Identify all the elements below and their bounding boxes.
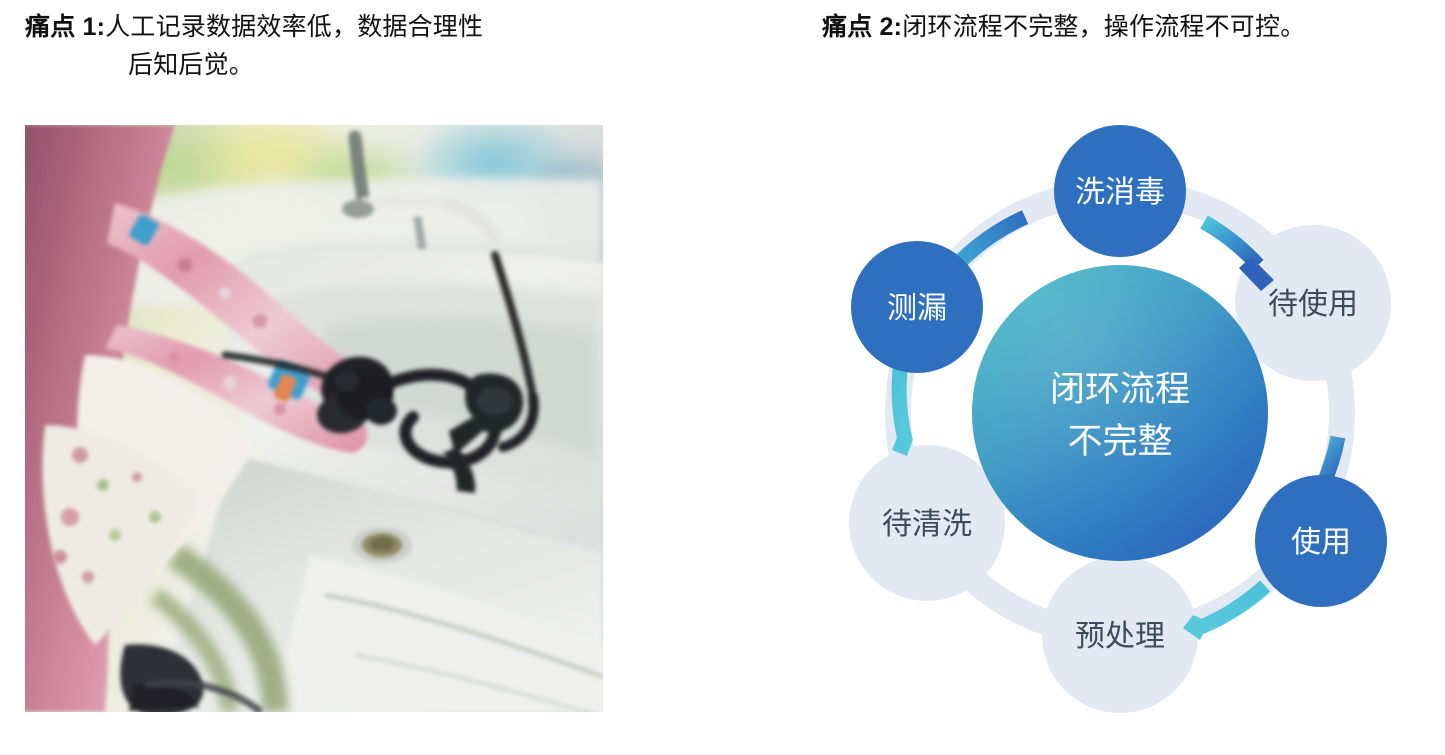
center-label-line1: 闭环流程 xyxy=(1050,370,1190,409)
node-label-shiyong: 使用 xyxy=(1291,526,1351,559)
pain-point-2-text-line1: 闭环流程不完整，操作流程不可控。 xyxy=(902,13,1305,41)
pain-point-2-label: 痛点 2: xyxy=(822,13,902,41)
closed-loop-cycle-diagram: 闭环流程 不完整 洗消毒 待使用 使用 预处理 待清洗 测漏 xyxy=(795,95,1445,750)
node-label-xixiaodu: 洗消毒 xyxy=(1075,176,1165,209)
pain-point-2-heading: 痛点 2:闭环流程不完整，操作流程不可控。 xyxy=(822,8,1442,46)
pain-point-1-label: 痛点 1: xyxy=(25,13,105,41)
node-label-yuchuli: 预处理 xyxy=(1075,620,1165,653)
node-label-daiqingxi: 待清洗 xyxy=(882,508,972,541)
manual-endoscope-washing-photo xyxy=(25,125,603,712)
node-label-daishiyong: 待使用 xyxy=(1268,288,1358,321)
center-label-line2: 不完整 xyxy=(1067,422,1172,461)
node-label-celou: 测漏 xyxy=(887,292,947,325)
pain-point-1-text-line2: 后知后觉。 xyxy=(25,46,625,84)
pain-point-1-text-line1: 人工记录数据效率低，数据合理性 xyxy=(105,13,483,41)
pain-point-1-heading: 痛点 1:人工记录数据效率低，数据合理性后知后觉。 xyxy=(25,8,625,84)
center-circle: 闭环流程 不完整 xyxy=(972,265,1268,561)
